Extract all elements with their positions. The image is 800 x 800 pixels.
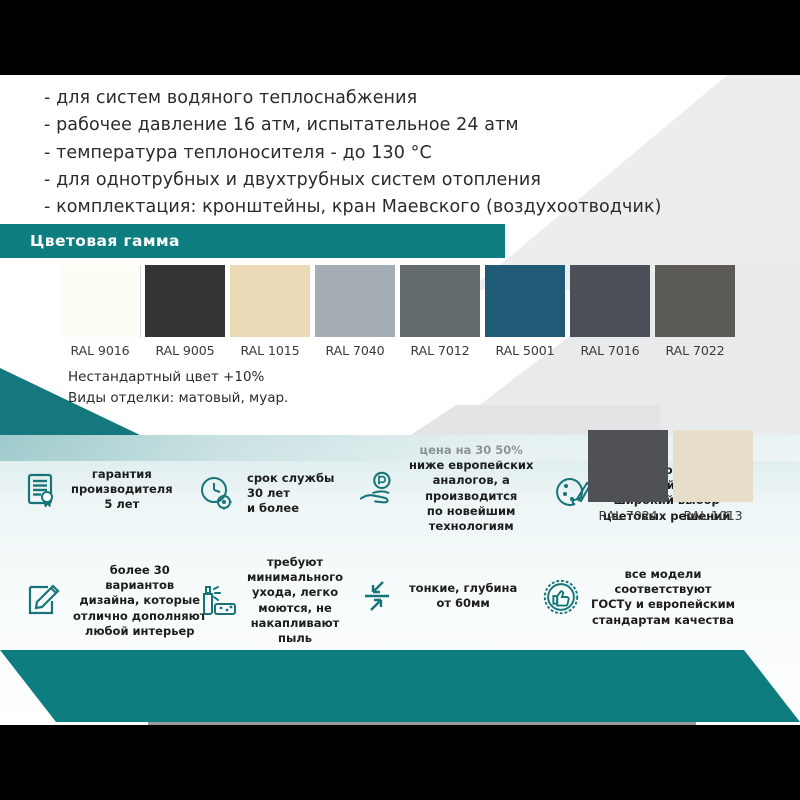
feature-item-depth[interactable]: тонкие, глубина от 60мм xyxy=(358,575,538,617)
swatch-row-secondary: RAL 7024 RAL 1013 xyxy=(588,430,753,523)
swatch-item[interactable]: RAL 7024 xyxy=(588,430,668,523)
swatch-item[interactable]: RAL 7022 xyxy=(655,265,735,358)
feature-label: все модели соответствуют ГОСТу и европей… xyxy=(591,567,735,628)
swatch-item[interactable]: RAL 1013 xyxy=(673,430,753,523)
palette-header-title: Цветовая гамма xyxy=(30,232,180,250)
finish-note-line: Виды отделки: матовый, муар. xyxy=(68,388,288,409)
feature-item-maintenance[interactable]: требуют минимального ухода, легко моются… xyxy=(196,555,366,646)
swatch-item[interactable]: RAL 7012 xyxy=(400,265,480,358)
swatch-label: RAL 1015 xyxy=(230,343,310,358)
feature-label: более 30 вариантов дизайна, которые отли… xyxy=(73,563,206,639)
letterbox-top xyxy=(0,0,800,75)
swatch-label: RAL 9005 xyxy=(145,343,225,358)
feature-item-warranty[interactable]: гарантия производителя 5 лет xyxy=(20,467,200,513)
depth-arrows-icon xyxy=(358,575,400,617)
swatch-item[interactable]: RAL 1015 xyxy=(230,265,310,358)
swatch-label: RAL 7012 xyxy=(400,343,480,358)
finish-notes: Нестандартный цвет +10% Виды отделки: ма… xyxy=(68,367,288,409)
swatch-chip[interactable] xyxy=(655,265,735,337)
feature-label: гарантия производителя 5 лет xyxy=(71,467,173,513)
spec-line: - для однотрубных и двухтрубных систем о… xyxy=(44,167,644,194)
swatch-item[interactable]: RAL 7016 xyxy=(570,265,650,358)
swatch-label: RAL 1013 xyxy=(673,508,753,523)
swatch-label: RAL 7024 xyxy=(588,508,668,523)
feature-item-lifespan[interactable]: срок службы 30 лет и более xyxy=(196,471,376,517)
spec-line: - для систем водяного теплоснабжения xyxy=(44,85,644,112)
swatch-chip[interactable] xyxy=(400,265,480,337)
swatch-label: RAL 7022 xyxy=(655,343,735,358)
poster-page: - для систем водяного теплоснабжения - р… xyxy=(0,75,800,725)
swatch-item[interactable]: RAL 9016 xyxy=(60,265,140,358)
swatch-label: RAL 7016 xyxy=(570,343,650,358)
swatch-item[interactable]: RAL 5001 xyxy=(485,265,565,358)
swatch-chip[interactable] xyxy=(60,265,141,337)
finish-note-line: Нестандартный цвет +10% xyxy=(68,367,288,388)
swatch-label: RAL 9016 xyxy=(60,343,140,358)
swatch-label: RAL 7040 xyxy=(315,343,395,358)
swatch-label: RAL 5001 xyxy=(485,343,565,358)
swatch-chip[interactable] xyxy=(570,265,650,337)
swatch-chip[interactable] xyxy=(485,265,565,337)
letterbox-bottom xyxy=(0,725,800,800)
spray-sponge-icon xyxy=(196,580,238,622)
swatch-item[interactable]: RAL 7040 xyxy=(315,265,395,358)
swatch-item[interactable]: RAL 9005 xyxy=(145,265,225,358)
hand-ruble-icon xyxy=(358,468,400,510)
swatch-row-primary: RAL 9016 RAL 9005 RAL 1015 RAL 7040 RAL … xyxy=(60,265,735,358)
specifications-list: - для систем водяного теплоснабжения - р… xyxy=(44,85,644,221)
spec-line: - рабочее давление 16 атм, испытательное… xyxy=(44,112,644,139)
feature-label: тонкие, глубина от 60мм xyxy=(409,581,517,611)
feature-item-quality[interactable]: все модели соответствуют ГОСТу и европей… xyxy=(540,567,770,628)
spec-line: - температура теплоносителя - до 130 °C xyxy=(44,140,644,167)
swatch-chip[interactable] xyxy=(230,265,310,337)
certificate-icon xyxy=(20,469,62,511)
clock-gear-icon xyxy=(196,473,238,515)
swatch-chip[interactable] xyxy=(315,265,395,337)
poster-stage: - для систем водяного теплоснабжения - р… xyxy=(0,0,800,800)
swatch-chip[interactable] xyxy=(673,430,753,502)
spec-line: - комплектация: кронштейны, кран Маевско… xyxy=(44,194,644,221)
footer-teal-band xyxy=(0,650,800,722)
quality-badge-icon xyxy=(540,576,582,618)
feature-item-design[interactable]: более 30 вариантов дизайна, которые отли… xyxy=(22,563,222,639)
pencil-design-icon xyxy=(22,580,64,622)
feature-label: требуют минимального ухода, легко моются… xyxy=(247,555,343,646)
swatch-chip[interactable] xyxy=(588,430,668,502)
swatch-chip[interactable] xyxy=(145,265,225,337)
feature-label: срок службы 30 лет и более xyxy=(247,471,334,517)
